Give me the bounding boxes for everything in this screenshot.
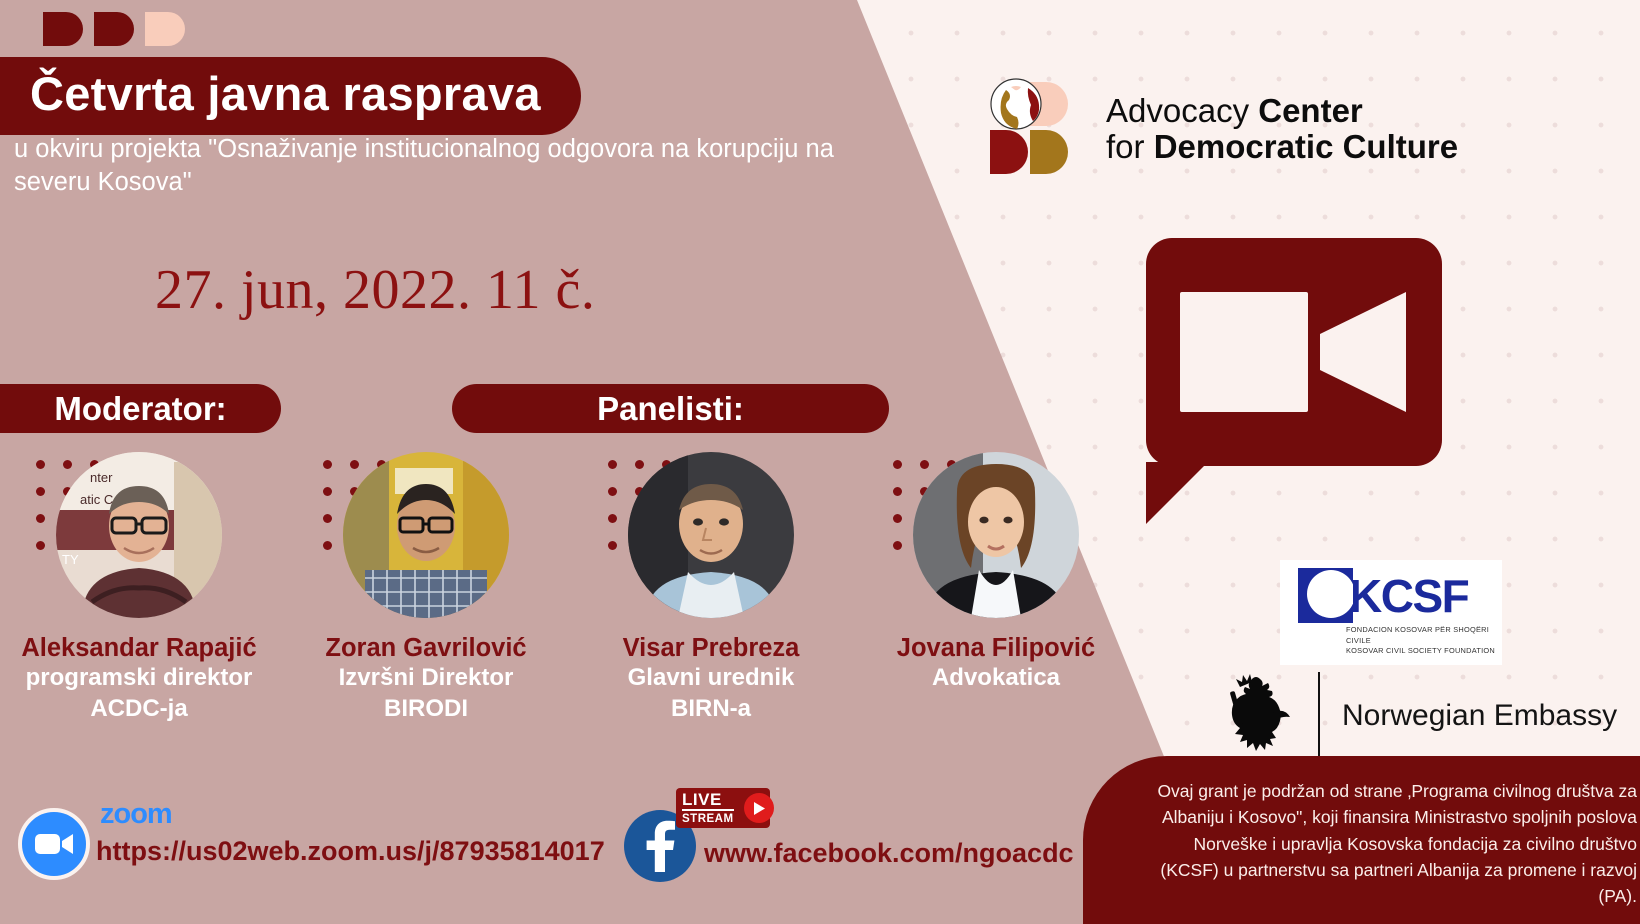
stream-label: STREAM <box>682 811 734 827</box>
speaker-role-line1: programski direktor <box>0 663 280 694</box>
kcsf-subtitle-en: KOSOVAR CIVIL SOCIETY FOUNDATION <box>1346 646 1502 657</box>
kcsf-square-circle-icon <box>1298 568 1353 623</box>
grant-disclaimer: Ovaj grant je podržan od strane ‚Program… <box>1083 756 1640 924</box>
speaker-name: Visar Prebreza <box>570 633 852 663</box>
zoom-url[interactable]: https://us02web.zoom.us/j/87935814017 <box>96 836 605 867</box>
norwegian-embassy-logo: Norwegian Embassy <box>1222 672 1617 760</box>
d-mark-2-icon <box>94 12 134 46</box>
speaker-role-line2: ACDC-ja <box>0 694 280 725</box>
poster-canvas: Četvrta javna rasprava u okviru projekta… <box>0 0 1640 924</box>
video-camera-icon <box>34 831 74 857</box>
avatar-photo <box>343 452 509 618</box>
avatar <box>343 452 509 618</box>
d-mark-3-icon <box>145 12 185 46</box>
zoom-video-icon <box>18 808 90 880</box>
avatar-photo <box>628 452 794 618</box>
avatar: nter atic C TY <box>56 452 222 618</box>
video-camera-icon <box>1180 292 1408 412</box>
kcsf-mark-icon <box>1298 568 1353 623</box>
acdc-line-2: for Democratic Culture <box>1106 129 1458 165</box>
play-triangle-icon <box>753 802 765 815</box>
live-label: LIVE <box>682 791 734 811</box>
live-stream-badge: LIVE STREAM <box>676 788 770 828</box>
speaker-role-line2: BIRN-a <box>570 694 852 725</box>
svg-text:TY: TY <box>62 552 79 567</box>
moderator-label: Moderator: <box>0 384 281 433</box>
speaker-card: Jovana Filipović Advokatica <box>855 452 1137 694</box>
kcsf-subtitle: FONDACION KOSOVAR PËR SHOQËRI CIVILE KOS… <box>1346 625 1502 657</box>
facebook-url[interactable]: www.facebook.com/ngoacdc <box>704 838 1074 869</box>
acdc-logo: Advocacy Center for Democratic Culture <box>988 78 1458 180</box>
speaker-name: Jovana Filipović <box>855 633 1137 663</box>
avatar <box>628 452 794 618</box>
kcsf-wordmark: KCSF <box>1349 569 1468 623</box>
acdc-line-1: Advocacy Center <box>1106 93 1458 129</box>
speaker-role-line2: BIRODI <box>285 694 567 725</box>
decorative-d-marks <box>43 12 185 46</box>
speaker-role-line1: Glavni urednik <box>570 663 852 694</box>
speaker-name: Aleksandar Rapajić <box>0 633 280 663</box>
acdc-democratic-culture-word: Democratic Culture <box>1154 128 1458 165</box>
speaker-card: Visar Prebreza Glavni urednik BIRN-a <box>570 452 852 725</box>
svg-text:atic C: atic C <box>80 492 113 507</box>
kcsf-subtitle-sq: FONDACION KOSOVAR PËR SHOQËRI CIVILE <box>1346 625 1502 646</box>
page-subtitle: u okviru projekta "Osnaživanje instituci… <box>14 133 854 198</box>
speaker-card: nter atic C TY Aleksandar Rapajić progra… <box>0 452 280 725</box>
panelists-label: Panelisti: <box>452 384 889 433</box>
acdc-advocacy-word: Advocacy <box>1106 92 1258 129</box>
speaker-name: Zoran Gavrilović <box>285 633 567 663</box>
grant-disclaimer-text: Ovaj grant je podržan od strane ‚Program… <box>1137 778 1637 909</box>
speaker-role-line1: Advokatica <box>855 663 1137 694</box>
kcsf-logo: KCSF FONDACION KOSOVAR PËR SHOQËRI CIVIL… <box>1280 560 1502 665</box>
acdc-logo-text: Advocacy Center for Democratic Culture <box>1106 93 1458 164</box>
d-mark-1-icon <box>43 12 83 46</box>
video-bubble-tail <box>1146 462 1208 524</box>
svg-text:nter: nter <box>90 470 113 485</box>
event-date: 27. jun, 2022. 11 č. <box>155 258 595 322</box>
zoom-wordmark: zoom <box>100 798 172 831</box>
speaker-card: Zoran Gavrilović Izvršni Direktor BIRODI <box>285 452 567 725</box>
avatar-photo: nter atic C TY <box>56 452 222 618</box>
facebook-f-icon <box>643 820 677 872</box>
norwegian-embassy-label: Norwegian Embassy <box>1342 699 1617 733</box>
acdc-globe-mark-icon <box>988 78 1090 180</box>
avatar-photo <box>913 452 1079 618</box>
play-icon <box>744 793 774 823</box>
kcsf-logo-row: KCSF <box>1298 568 1468 623</box>
avatar <box>913 452 1079 618</box>
speaker-role-line1: Izvršni Direktor <box>285 663 567 694</box>
acdc-for-word: for <box>1106 128 1154 165</box>
acdc-mark-svg <box>988 78 1090 180</box>
video-bubble <box>1146 238 1442 466</box>
logo-divider <box>1318 672 1320 760</box>
norwegian-lion-crest-icon <box>1222 673 1296 759</box>
acdc-center-word: Center <box>1258 92 1363 129</box>
page-title: Četvrta javna rasprava <box>0 57 581 135</box>
